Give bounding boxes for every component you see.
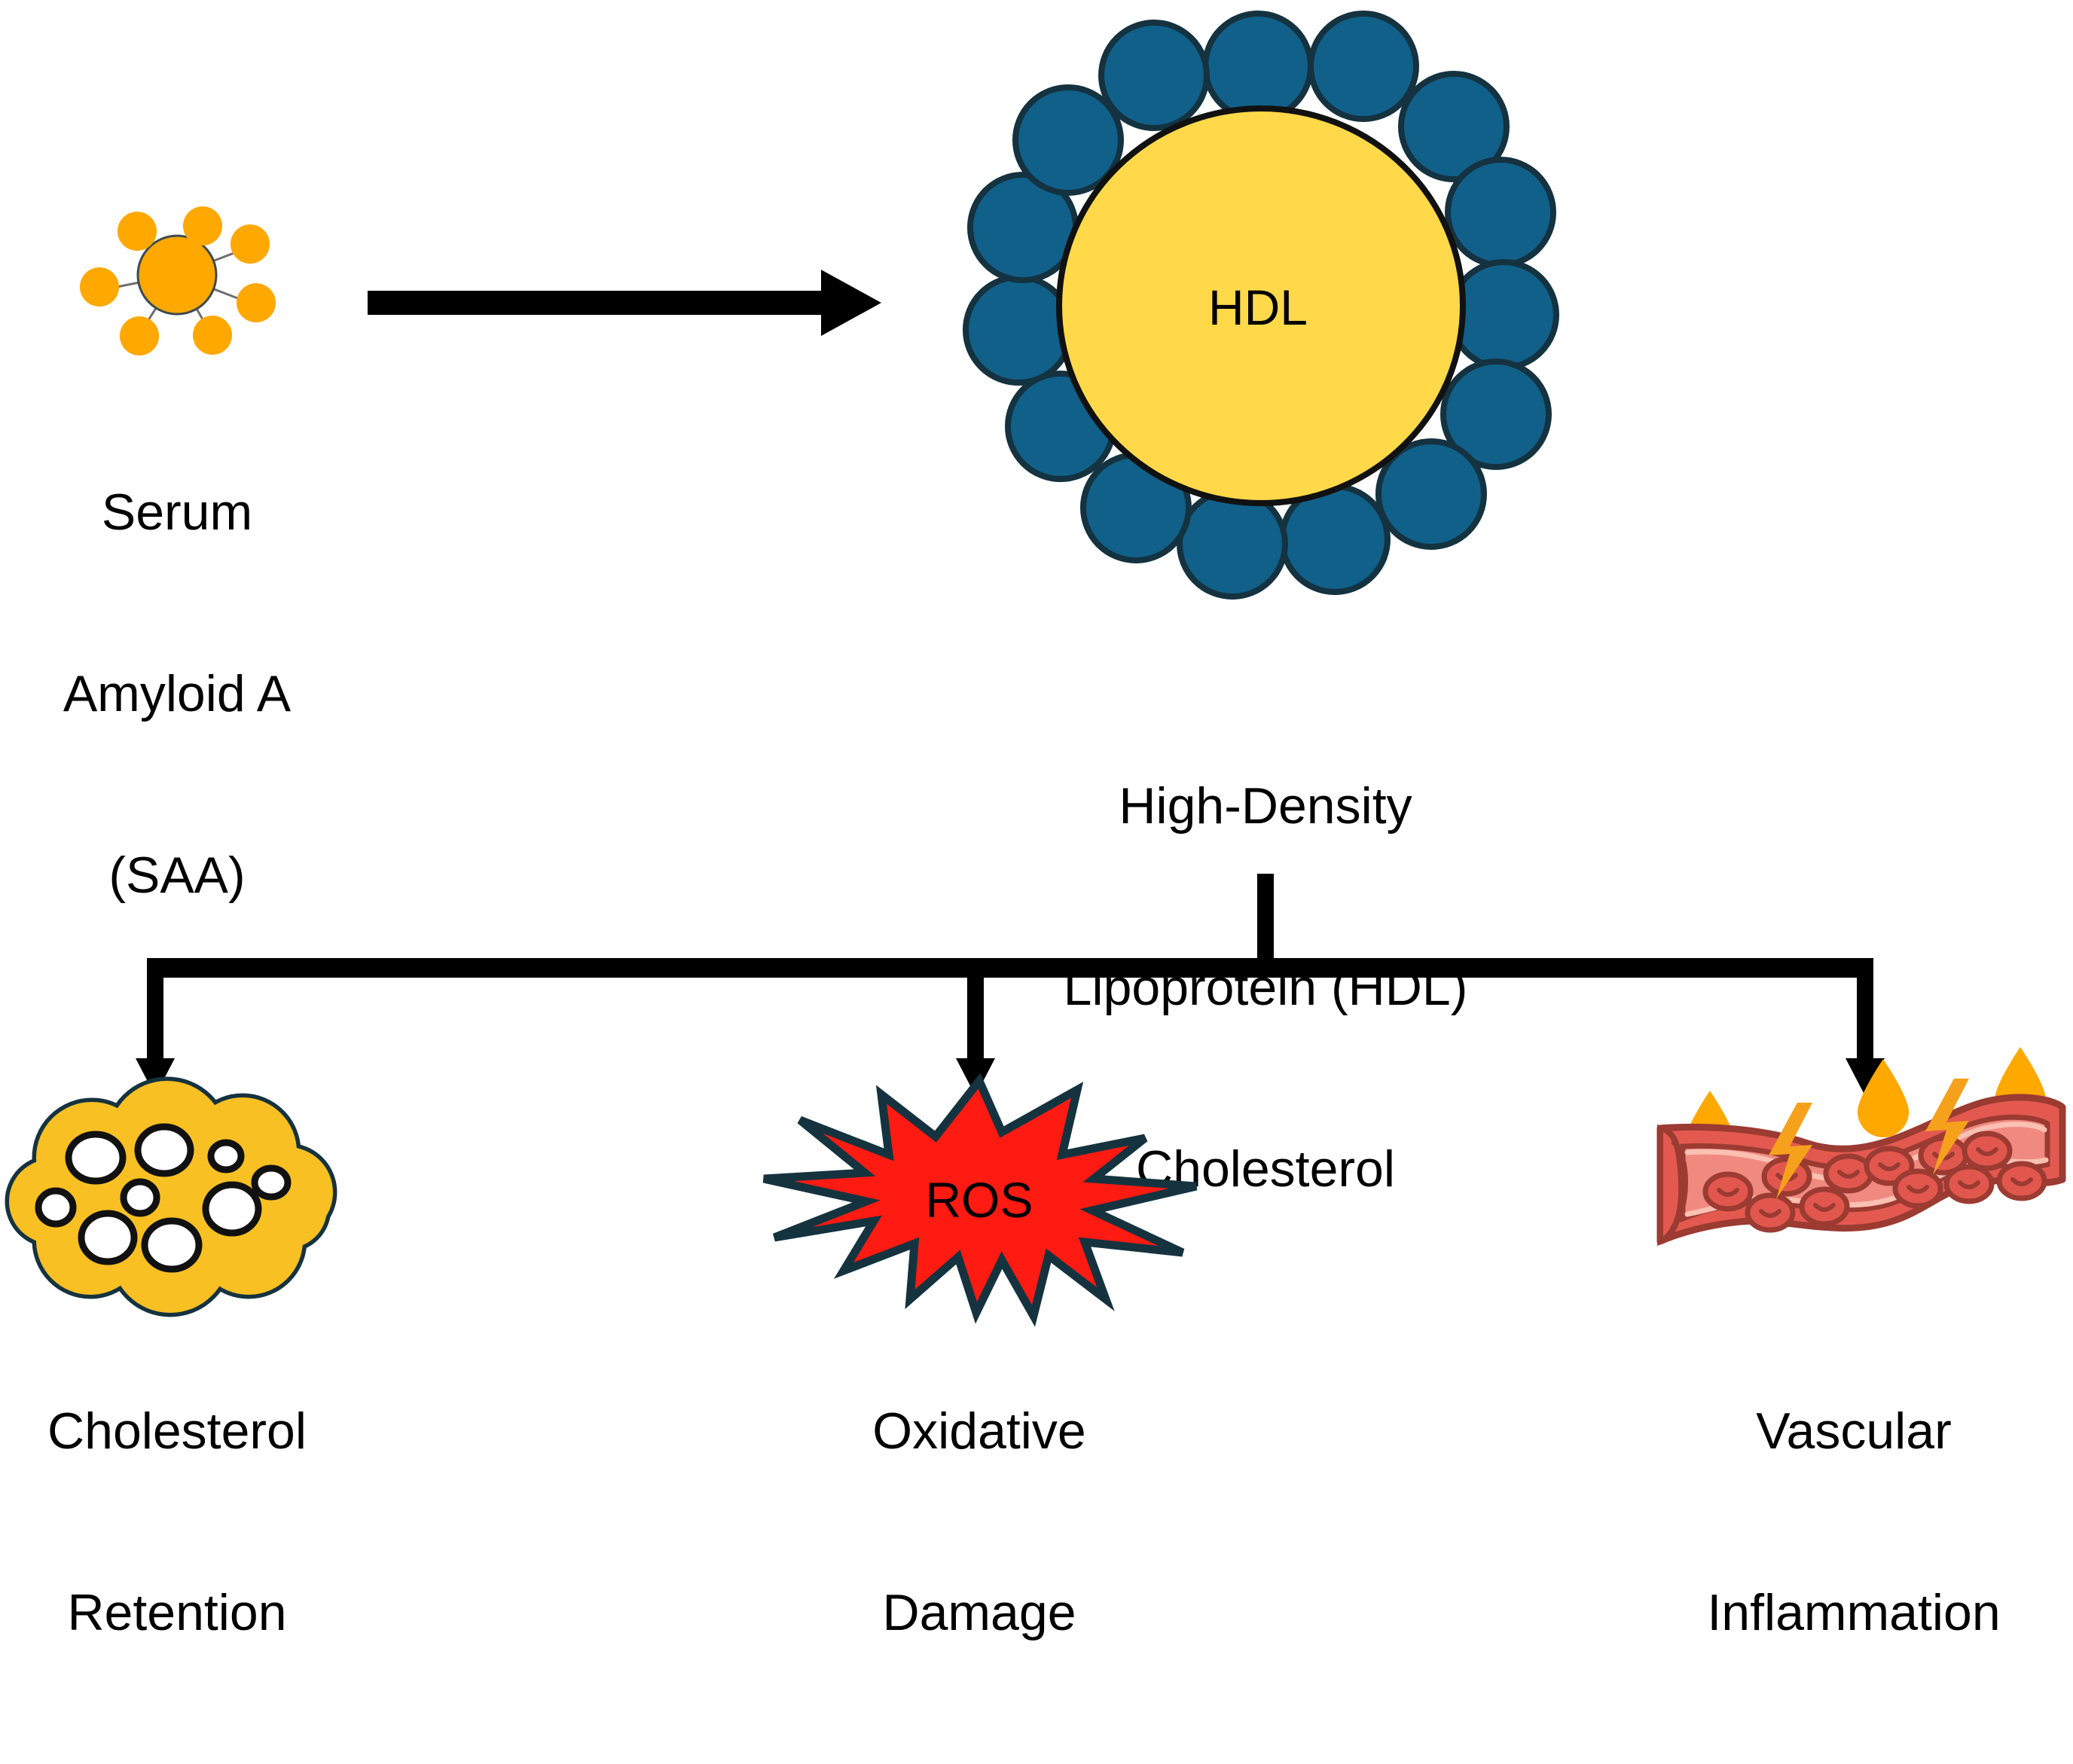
ros-burst-label: ROS <box>753 1171 1205 1228</box>
rbc-icon <box>1826 1156 1871 1191</box>
rbc-icon <box>1705 1174 1751 1209</box>
branch-stem <box>1257 874 1274 964</box>
cholesterol-retention-line-2: Retention <box>0 1582 354 1643</box>
oxidative-damage-caption: Oxidative Damage <box>761 1280 1198 1764</box>
oxidative-damage-line-1: Oxidative <box>761 1401 1198 1461</box>
rbc-icon <box>1946 1167 1992 1201</box>
rbc-icon <box>1748 1195 1793 1230</box>
hdl-caption-line-1: High-Density <box>964 776 1567 836</box>
saa-caption-line-1: Serum <box>26 482 328 542</box>
arrow-saa-to-hdl <box>362 264 889 346</box>
arrow-shape <box>368 270 881 336</box>
vascular-inflammation-caption: Vascular Inflammation <box>1635 1280 2073 1764</box>
rbc-icon <box>1802 1189 1847 1224</box>
saa-core-circle <box>138 236 216 314</box>
branch-connector-svg <box>136 866 1898 1100</box>
saa-molecule-icon <box>68 188 286 354</box>
rbc-icon <box>1965 1134 2010 1168</box>
arrow-saa-to-hdl-svg <box>362 264 889 346</box>
branch-bar <box>147 958 1873 978</box>
branch-connector <box>136 866 1898 1100</box>
diagram-canvas: Serum Amyloid A (SAA) <box>0 0 2073 1425</box>
rbc-icon <box>1895 1171 1940 1206</box>
vascular-inflammation-line-2: Inflammation <box>1635 1582 2073 1643</box>
oxidative-damage-line-2: Damage <box>761 1582 1198 1643</box>
droplet-icon <box>1858 1059 1909 1137</box>
hdl-particle-icon: HDL <box>964 8 1552 625</box>
rbc-icon <box>1999 1164 2044 1198</box>
saa-caption-line-2: Amyloid A <box>26 664 328 724</box>
cholesterol-retention-line-1: Cholesterol <box>0 1401 354 1461</box>
hdl-core-label: HDL <box>964 279 1552 336</box>
saa-molecule-svg <box>68 188 286 354</box>
vascular-inflammation-line-1: Vascular <box>1635 1401 2073 1461</box>
cholesterol-retention-caption: Cholesterol Retention <box>0 1280 354 1764</box>
